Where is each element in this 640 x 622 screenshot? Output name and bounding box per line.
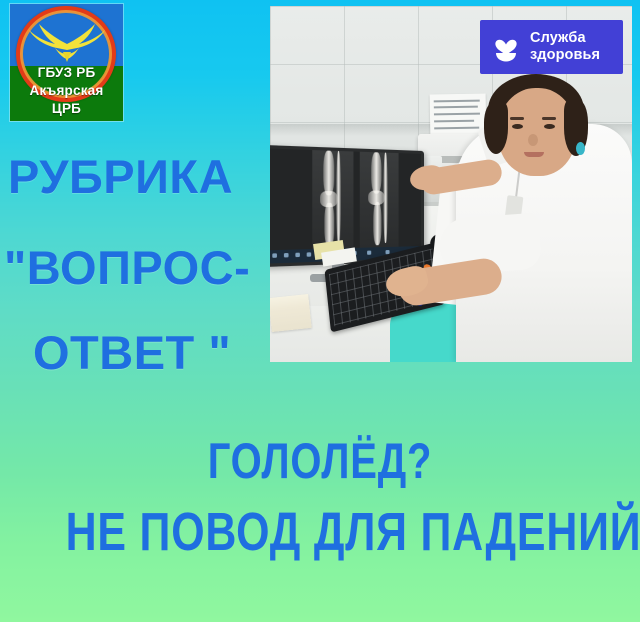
logo-line-1: ГБУЗ РБ [10,64,123,82]
monitor-screen [270,148,421,263]
paper-stack [270,294,312,332]
headline-vopros: "ВОПРОС- [4,243,250,293]
doctor-eye-right [544,124,555,129]
health-badge-line-2: здоровья [530,47,600,64]
headline-otvet: ОТВЕТ " [33,328,231,378]
doctor-brow-right [542,117,556,120]
poster: ГБУЗ РБ Акъярская ЦРБ РУБРИКА "ВОПРОС- О… [0,0,640,622]
logo-text-block: ГБУЗ РБ Акъярская ЦРБ [10,64,123,118]
heart-smile-icon [490,31,522,63]
slogan-line-1: ГОЛОЛЁД? [64,434,576,488]
headline-rubrika: РУБРИКА [8,152,233,202]
doctor-nose [528,134,538,146]
hospital-logo: ГБУЗ РБ Акъярская ЦРБ [10,4,123,121]
doctor-earring [576,142,585,155]
logo-line-2: Акъярская [10,82,123,100]
health-badge-line-1: Служба [530,30,600,47]
doctor-mouth [524,152,544,157]
xray-image-left [312,150,353,249]
xray-image-right [359,152,398,248]
logo-eagle-icon [19,14,115,66]
health-service-badge: Служба здоровья [480,20,623,74]
doctor-eye-left [512,124,523,129]
doctor-hair-left [484,102,508,154]
slogan-line-2: НЕ ПОВОД ДЛЯ ПАДЕНИЙ! [66,503,575,561]
doctor-brow-left [510,117,524,120]
doctor-photo: Служба здоровья [270,6,632,362]
logo-line-3: ЦРБ [10,100,123,118]
health-badge-text: Служба здоровья [530,30,600,64]
